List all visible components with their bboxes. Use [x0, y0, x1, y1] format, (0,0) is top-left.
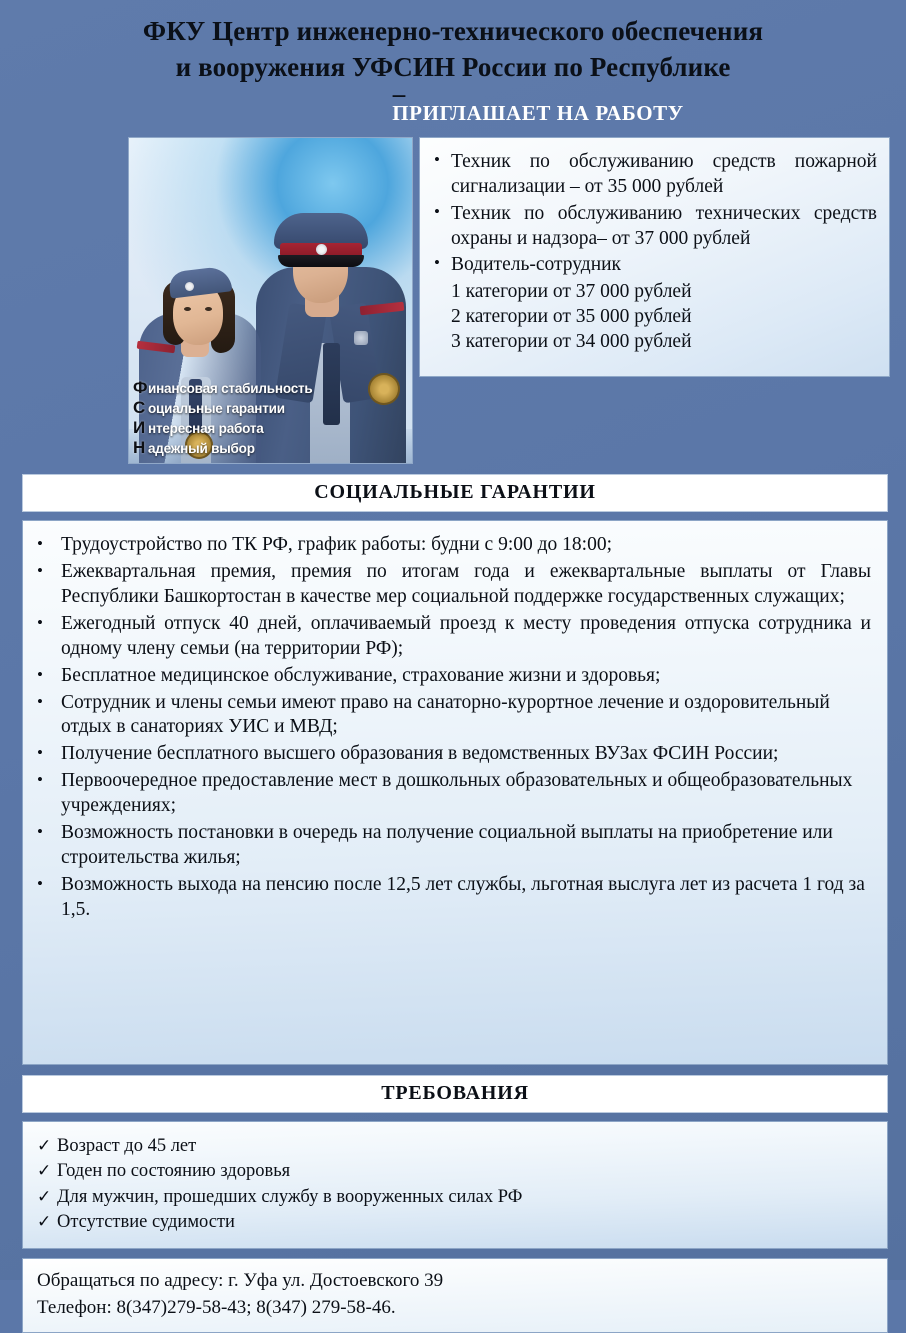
guarantee-text: Трудоустройство по ТК РФ, график работы:…	[61, 533, 871, 558]
section-title-requirements: ТРЕБОВАНИЯ	[22, 1075, 888, 1113]
acronym-letter-i: И	[133, 419, 148, 436]
fsin-acronym-overlay: Ф инансовая стабильность С оциальные гар…	[133, 379, 313, 459]
vacancy-item: • Техник по обслуживанию средств пожарно…	[434, 149, 877, 200]
bullet-icon: •	[37, 873, 61, 923]
driver-category-1: 1 категории от 37 000 рублей	[451, 279, 877, 304]
acronym-row-f: Ф инансовая стабильность	[133, 379, 313, 396]
guarantee-item: • Трудоустройство по ТК РФ, график работ…	[37, 533, 871, 558]
guarantee-text: Получение бесплатного высшего образовани…	[61, 742, 871, 767]
vacancies-panel: • Техник по обслуживанию средств пожарно…	[419, 137, 890, 377]
bullet-icon: •	[37, 821, 61, 871]
requirement-text: Отсутствие судимости	[57, 1210, 235, 1236]
bullet-icon: •	[37, 533, 61, 558]
female-officer-cap-badge	[185, 282, 194, 291]
vacancy-text: Техник по обслуживанию технических средс…	[451, 201, 877, 252]
guarantee-item: • Получение бесплатного высшего образова…	[37, 742, 871, 767]
acronym-letter-f: Ф	[133, 379, 148, 396]
guarantees-panel: • Трудоустройство по ТК РФ, график работ…	[22, 520, 888, 1065]
guarantee-text: Возможность постановки в очередь на полу…	[61, 821, 871, 871]
acronym-row-s: С оциальные гарантии	[133, 399, 313, 416]
male-officer-chest-badge	[354, 331, 368, 345]
guarantee-item: • Ежеквартальная премия, премия по итога…	[37, 560, 871, 610]
check-icon: ✓	[37, 1134, 57, 1157]
guarantee-item: • Возможность выхода на пенсию после 12,…	[37, 873, 871, 923]
guarantee-item: • Возможность постановки в очередь на по…	[37, 821, 871, 871]
guarantee-text: Ежегодный отпуск 40 дней, оплачиваемый п…	[61, 612, 871, 662]
guarantee-text: Бесплатное медицинское обслуживание, стр…	[61, 664, 871, 689]
bullet-icon: •	[37, 612, 61, 662]
poster-header: ФКУ Центр инженерно-технического обеспеч…	[0, 0, 906, 126]
bullet-icon: •	[37, 664, 61, 689]
guarantee-item: • Сотрудник и члены семьи имеют право на…	[37, 691, 871, 741]
org-title-line-2: и вооружения УФСИН России по Республике	[40, 50, 866, 86]
guarantee-text: Возможность выхода на пенсию после 12,5 …	[61, 873, 871, 923]
acronym-letter-n: Н	[133, 439, 148, 456]
female-officer-eye-right	[205, 307, 212, 311]
guarantee-item: • Ежегодный отпуск 40 дней, оплачиваемый…	[37, 612, 871, 662]
guarantee-item: • Бесплатное медицинское обслуживание, с…	[37, 664, 871, 689]
vacancy-text: Водитель-сотрудник	[451, 252, 877, 277]
requirement-text: Возраст до 45 лет	[57, 1134, 196, 1160]
check-icon: ✓	[37, 1159, 57, 1182]
guarantee-text: Ежеквартальная премия, премия по итогам …	[61, 560, 871, 610]
vacancy-text: Техник по обслуживанию средств пожарной …	[451, 149, 877, 200]
acronym-text-i: нтересная работа	[148, 422, 264, 436]
contact-address: Обращаться по адресу: г. Уфа ул. Достоев…	[37, 1268, 871, 1295]
acronym-text-s: оциальные гарантии	[148, 402, 285, 416]
male-officer-cap-badge	[316, 244, 327, 255]
requirement-item: ✓ Возраст до 45 лет	[37, 1134, 871, 1160]
bullet-icon: •	[37, 560, 61, 610]
driver-category-2: 2 категории от 35 000 рублей	[451, 304, 877, 329]
acronym-row-n: Н адежный выбор	[133, 439, 313, 456]
vacancy-item: • Техник по обслуживанию технических сре…	[434, 201, 877, 252]
requirement-item: ✓ Отсутствие судимости	[37, 1210, 871, 1236]
guarantee-text: Первоочередное предоставление мест в дош…	[61, 769, 871, 819]
acronym-row-i: И нтересная работа	[133, 419, 313, 436]
bullet-icon: •	[434, 201, 451, 252]
bullet-icon: •	[434, 149, 451, 200]
guarantee-item: • Первоочередное предоставление мест в д…	[37, 769, 871, 819]
requirements-panel: ✓ Возраст до 45 лет ✓ Годен по состоянию…	[22, 1121, 888, 1249]
vacancies-list: • Техник по обслуживанию средств пожарно…	[434, 149, 877, 278]
requirement-text: Для мужчин, прошедших службу в вооруженн…	[57, 1185, 522, 1211]
driver-category-3: 3 категории от 34 000 рублей	[451, 329, 877, 354]
hero-row: Ф инансовая стабильность С оциальные гар…	[0, 137, 906, 464]
poster-root: ФКУ Центр инженерно-технического обеспеч…	[0, 0, 906, 1280]
bullet-icon: •	[37, 691, 61, 741]
check-icon: ✓	[37, 1185, 57, 1208]
invite-headline: ПРИГЛАШАЕТ НА РАБОТУ	[210, 101, 866, 126]
male-officer-tie	[323, 343, 340, 425]
male-officer-cap-peak	[278, 255, 364, 267]
contact-panel: Обращаться по адресу: г. Уфа ул. Достоев…	[22, 1258, 888, 1333]
check-icon: ✓	[37, 1210, 57, 1233]
acronym-text-f: инансовая стабильность	[148, 382, 313, 396]
requirement-item: ✓ Для мужчин, прошедших службу в вооруже…	[37, 1185, 871, 1211]
requirement-item: ✓ Годен по состоянию здоровья	[37, 1159, 871, 1185]
male-officer-sleeve-emblem	[368, 373, 400, 405]
vacancy-item: • Водитель-сотрудник	[434, 252, 877, 277]
acronym-letter-s: С	[133, 399, 148, 416]
guarantee-text: Сотрудник и члены семьи имеют право на с…	[61, 691, 871, 741]
female-officer-eye-left	[184, 307, 191, 311]
section-title-guarantees: СОЦИАЛЬНЫЕ ГАРАНТИИ	[22, 474, 888, 512]
org-title-line-1: ФКУ Центр инженерно-технического обеспеч…	[40, 14, 866, 50]
requirement-text: Годен по состоянию здоровья	[57, 1159, 290, 1185]
bullet-icon: •	[434, 252, 451, 277]
contact-phone: Телефон: 8(347)279-58-43; 8(347) 279-58-…	[37, 1295, 871, 1322]
bullet-icon: •	[37, 769, 61, 819]
acronym-text-n: адежный выбор	[148, 442, 255, 456]
bullet-icon: •	[37, 742, 61, 767]
officers-photo: Ф инансовая стабильность С оциальные гар…	[128, 137, 413, 464]
